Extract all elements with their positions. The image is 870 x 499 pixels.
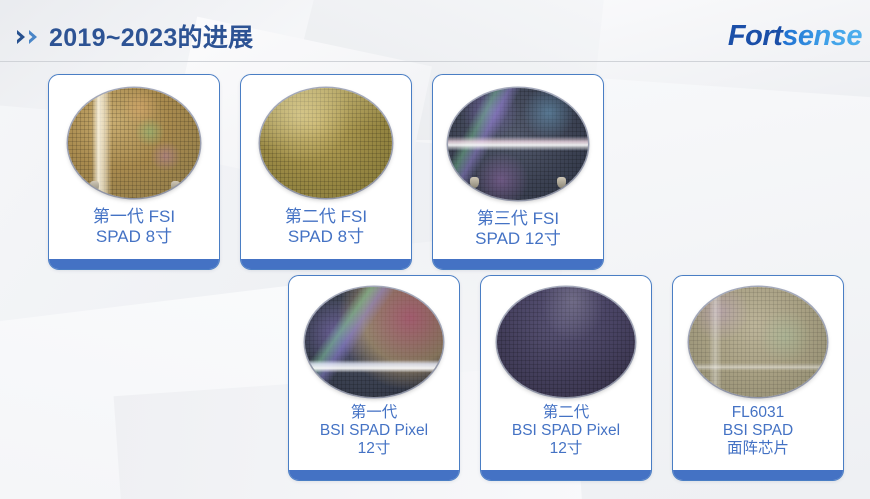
slide-canvas: 2019~2023的进展 Fortsense 第一代 FSI SPAD 8寸 (0, 0, 870, 499)
card-label: 第一代 BSI SPAD Pixel 12寸 (316, 404, 432, 458)
card-label: 第二代 FSI SPAD 8寸 (281, 207, 371, 246)
double-chevron-right-icon (16, 29, 39, 45)
card-gen2-fsi-spad-8[interactable]: 第二代 FSI SPAD 8寸 (240, 74, 412, 270)
wafer-image-container (305, 287, 443, 397)
card-gen1-bsi-spad-pixel-12[interactable]: 第一代 BSI SPAD Pixel 12寸 (288, 275, 460, 481)
logo-text-fort: Fort (728, 20, 782, 52)
title-row: 2019~2023的进展 (16, 18, 253, 54)
card-gen1-fsi-spad-8[interactable]: 第一代 FSI SPAD 8寸 (48, 74, 220, 270)
card-label: 第三代 FSI SPAD 12寸 (471, 209, 565, 248)
card-accent-bar (672, 470, 844, 481)
wafer-olive-gold (260, 88, 392, 198)
card-accent-bar (240, 259, 412, 270)
card-label: 第二代 BSI SPAD Pixel 12寸 (508, 404, 624, 458)
slide-header: 2019~2023的进展 Fortsense (0, 0, 870, 62)
wafer-image-container (497, 287, 635, 397)
wafer-image-container (448, 88, 588, 200)
wafer-image-container (689, 287, 827, 397)
wafer-dark-rainbow (305, 287, 443, 397)
card-accent-bar (288, 470, 460, 481)
logo-text-sense: sense (782, 20, 862, 52)
card-accent-bar (48, 259, 220, 270)
card-label: FL6031 BSI SPAD 面阵芯片 (719, 404, 797, 458)
fortsense-logo: Fortsense (728, 20, 862, 53)
card-label: 第一代 FSI SPAD 8寸 (89, 207, 179, 246)
card-accent-bar (432, 259, 604, 270)
wafer-dark-iridescent (448, 88, 588, 200)
wafer-gold-bronze (68, 88, 200, 198)
header-divider (0, 61, 870, 62)
card-fl6031-bsi-spad-array[interactable]: FL6031 BSI SPAD 面阵芯片 (672, 275, 844, 481)
page-title: 2019~2023的进展 (49, 18, 253, 54)
card-accent-bar (480, 470, 652, 481)
card-gen2-bsi-spad-pixel-12[interactable]: 第二代 BSI SPAD Pixel 12寸 (480, 275, 652, 481)
wafer-image-container (68, 88, 200, 198)
wafer-image-container (260, 88, 392, 198)
wafer-dark-purple (497, 287, 635, 397)
wafer-khaki (689, 287, 827, 397)
card-gen3-fsi-spad-12[interactable]: 第三代 FSI SPAD 12寸 (432, 74, 604, 270)
